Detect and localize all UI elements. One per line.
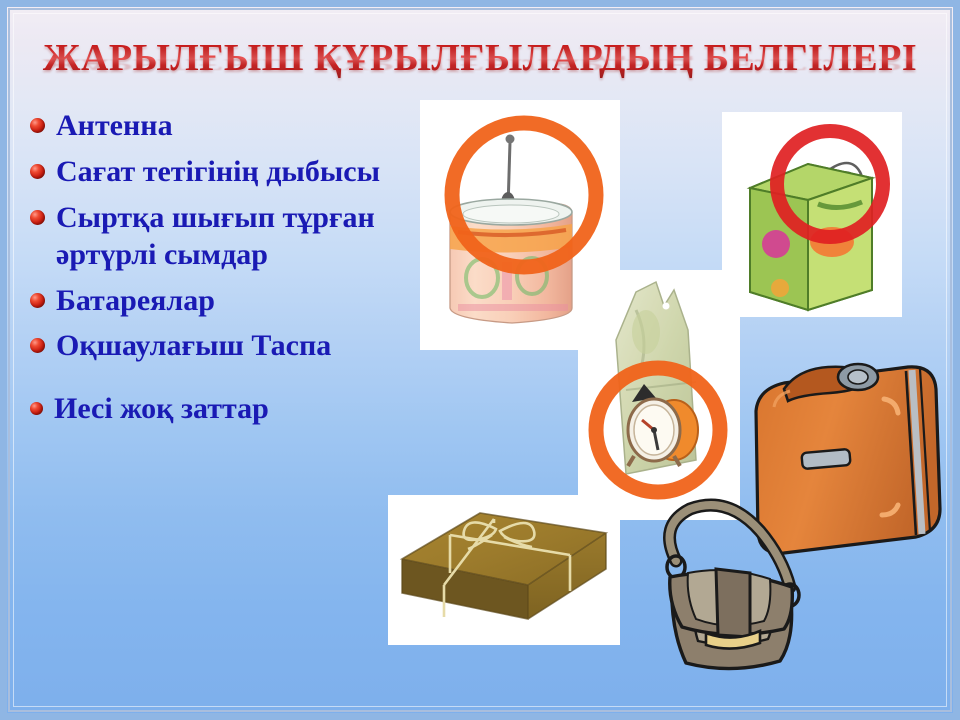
bullet-list: Антенна Сағат тетігінің дыбысы Сыртқа шы…: [30, 108, 380, 437]
bullet-marker-icon: [30, 402, 43, 415]
list-item-label: Сағат тетігінің дыбысы: [56, 154, 380, 191]
list-item-batteries: Батареялар: [30, 283, 380, 320]
list-item-ownerless: Иесі жоқ заттар: [30, 391, 380, 428]
handbag-body: [667, 505, 799, 668]
bullet-marker-icon: [30, 164, 45, 179]
list-item-label: Антенна: [56, 108, 173, 145]
list-item-label: Сыртқа шығып тұрған әртүрлі сымдар: [56, 200, 380, 274]
bullet-marker-icon: [30, 338, 45, 353]
bullet-marker-icon: [30, 293, 45, 308]
slide-title: ЖАРЫЛҒЫШ ҚҰРЫЛҒЫЛАРДЫҢ БЕЛГІЛЕРІ: [0, 36, 960, 80]
plastic-bag-with-alarm-clock-photo: [578, 270, 740, 520]
list-item-label: Батареялар: [56, 283, 215, 320]
list-item-wires: Сыртқа шығып тұрған әртүрлі сымдар: [30, 200, 380, 274]
list-item-label: Оқшаулағыш Таспа: [56, 328, 331, 365]
list-item-antenna: Антенна: [30, 108, 380, 145]
bullet-marker-icon: [30, 210, 45, 225]
bullet-marker-icon: [30, 118, 45, 133]
list-item-label: Иесі жоқ заттар: [54, 391, 269, 428]
brown-shoulder-bag-clipart: [640, 495, 825, 680]
brown-paper-parcel-photo: [388, 495, 620, 645]
list-item-clock-sound: Сағат тетігінің дыбысы: [30, 154, 380, 191]
slide-canvas: ЖАРЫЛҒЫШ ҚҰРЫЛҒЫЛАРДЫҢ БЕЛГІЛЕРІ ЖАРЫЛҒЫ…: [0, 0, 960, 720]
juice-box-with-wires-photo: [722, 112, 902, 317]
list-item-tape: Оқшаулағыш Таспа: [30, 328, 380, 365]
